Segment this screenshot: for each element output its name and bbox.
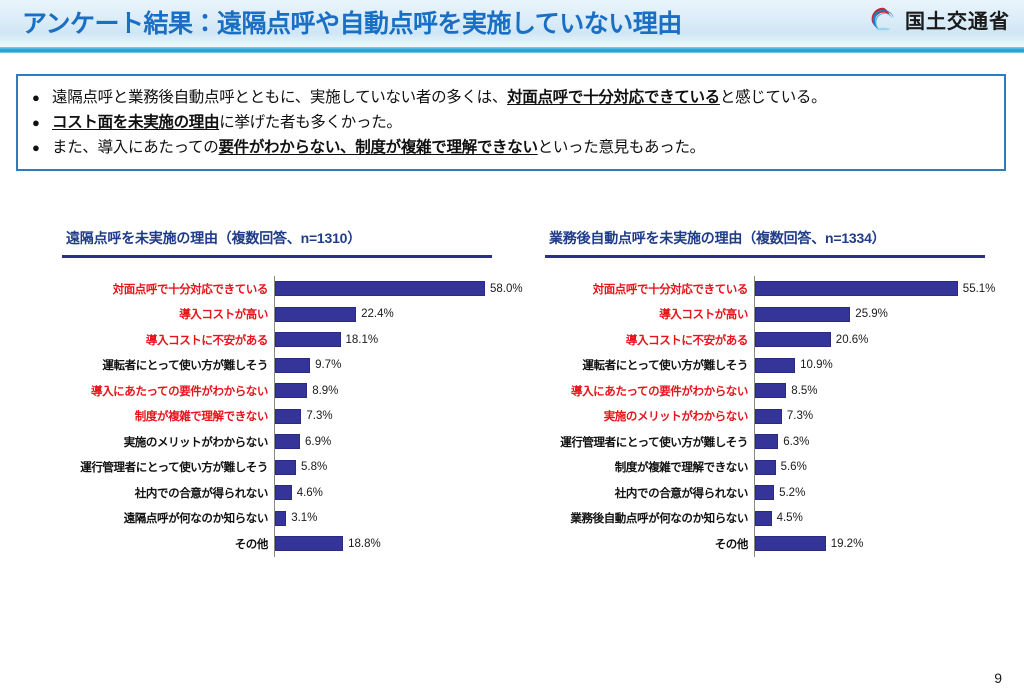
plain-phrase: と感じている。 xyxy=(720,89,826,106)
bar-track: 5.8% xyxy=(274,455,502,481)
bar-category-label: 運転者にとって使い方が難しそう xyxy=(62,357,274,373)
bar-category-label: 運転者にとって使い方が難しそう xyxy=(545,357,754,373)
summary-bullet: ●遠隔点呼と業務後自動点呼とともに、実施していない者の多くは、対面点呼で十分対応… xyxy=(32,85,992,110)
page-title: アンケート結果：遠隔点呼や自動点呼を実施していない理由 xyxy=(22,7,682,41)
plain-phrase: また、導入にあたっての xyxy=(52,139,218,156)
bar-value-label: 9.7% xyxy=(310,359,341,371)
bar-fill xyxy=(275,460,296,475)
bar-fill xyxy=(275,307,356,322)
bar-category-label: 導入コストに不安がある xyxy=(545,332,754,348)
bar-category-label: 制度が複雑で理解できない xyxy=(545,459,754,475)
bar-row: 対面点呼で十分対応できている55.1% xyxy=(545,276,995,302)
header-divider-rule xyxy=(0,47,1024,53)
page-number: 9 xyxy=(994,670,1002,686)
bar-fill xyxy=(275,511,286,526)
bar-category-label: 業務後自動点呼が何なのか知らない xyxy=(545,510,754,526)
bar-track: 5.6% xyxy=(754,455,995,481)
bar-row: その他18.8% xyxy=(62,531,502,557)
bar-track: 22.4% xyxy=(274,302,502,328)
bar-fill xyxy=(275,485,292,500)
bullet-dot-icon: ● xyxy=(32,135,52,160)
bar-category-label: 社内での合意が得られない xyxy=(62,485,274,501)
bar-fill xyxy=(275,358,310,373)
bar-category-label: 対面点呼で十分対応できている xyxy=(62,281,274,297)
bar-category-label: 導入コストに不安がある xyxy=(62,332,274,348)
bar-value-label: 8.5% xyxy=(786,385,817,397)
bar-fill xyxy=(275,281,485,296)
plain-phrase: 遠隔点呼と業務後自動点呼とともに、実施していない者の多くは、 xyxy=(52,89,507,106)
bar-value-label: 20.6% xyxy=(831,334,869,346)
bar-fill xyxy=(755,307,850,322)
summary-bullet-text: コスト面を未実施の理由に挙げた者も多くかった。 xyxy=(52,110,402,135)
bar-list: 対面点呼で十分対応できている55.1%導入コストが高い25.9%導入コストに不安… xyxy=(545,276,995,557)
bar-value-label: 8.9% xyxy=(307,385,338,397)
bar-row: 業務後自動点呼が何なのか知らない4.5% xyxy=(545,506,995,532)
bar-row: その他19.2% xyxy=(545,531,995,557)
bar-row: 実施のメリットがわからない7.3% xyxy=(545,404,995,430)
bar-track: 8.9% xyxy=(274,378,502,404)
bar-value-label: 58.0% xyxy=(485,283,523,295)
summary-bullet: ●また、導入にあたっての要件がわからない、制度が複雑で理解できないといった意見も… xyxy=(32,135,992,160)
bar-track: 58.0% xyxy=(274,276,523,302)
bar-value-label: 4.6% xyxy=(292,487,323,499)
bar-fill xyxy=(755,460,776,475)
bar-value-label: 5.8% xyxy=(296,461,327,473)
bar-fill xyxy=(275,434,300,449)
plain-phrase: に挙げた者も多くかった。 xyxy=(219,114,401,131)
bar-category-label: 遠隔点呼が何なのか知らない xyxy=(62,510,274,526)
bar-row: 導入コストに不安がある20.6% xyxy=(545,327,995,353)
bar-track: 7.3% xyxy=(754,404,995,430)
ministry-logo: 国土交通省 xyxy=(869,5,1010,34)
bar-track: 4.6% xyxy=(274,480,502,506)
bullet-dot-icon: ● xyxy=(32,110,52,135)
bar-track: 19.2% xyxy=(754,531,995,557)
emphasized-phrase: 要件がわからない、制度が複雑で理解できない xyxy=(218,139,537,156)
bar-row: 社内での合意が得られない4.6% xyxy=(62,480,502,506)
chart-title: 業務後自動点呼を未実施の理由（複数回答、n=1334） xyxy=(549,228,995,248)
bar-row: 運転者にとって使い方が難しそう9.7% xyxy=(62,353,502,379)
chart-title: 遠隔点呼を未実施の理由（複数回答、n=1310） xyxy=(66,228,502,248)
bar-category-label: 導入にあたっての要件がわからない xyxy=(62,383,274,399)
bar-list: 対面点呼で十分対応できている58.0%導入コストが高い22.4%導入コストに不安… xyxy=(62,276,502,557)
bar-fill xyxy=(755,281,958,296)
bar-value-label: 5.6% xyxy=(776,461,807,473)
bar-row: 制度が複雑で理解できない7.3% xyxy=(62,404,502,430)
bar-value-label: 55.1% xyxy=(958,283,996,295)
bar-value-label: 3.1% xyxy=(286,512,317,524)
bar-track: 55.1% xyxy=(754,276,995,302)
bar-value-label: 7.3% xyxy=(782,410,813,422)
bar-track: 6.9% xyxy=(274,429,502,455)
bar-track: 9.7% xyxy=(274,353,502,379)
bar-category-label: その他 xyxy=(62,536,274,552)
page-header: アンケート結果：遠隔点呼や自動点呼を実施していない理由 国土交通省 xyxy=(0,0,1024,54)
bar-fill xyxy=(275,383,307,398)
bar-fill xyxy=(755,383,786,398)
bar-row: 導入にあたっての要件がわからない8.5% xyxy=(545,378,995,404)
bar-category-label: 制度が複雑で理解できない xyxy=(62,408,274,424)
bar-fill xyxy=(755,409,782,424)
bar-category-label: 社内での合意が得られない xyxy=(545,485,754,501)
bar-category-label: 運行管理者にとって使い方が難しそう xyxy=(545,434,754,450)
summary-bullet-text: また、導入にあたっての要件がわからない、制度が複雑で理解できないといった意見もあ… xyxy=(52,135,705,160)
bar-track: 18.1% xyxy=(274,327,502,353)
bar-row: 運転者にとって使い方が難しそう10.9% xyxy=(545,353,995,379)
bar-track: 10.9% xyxy=(754,353,995,379)
bar-fill xyxy=(755,358,795,373)
plain-phrase: といった意見もあった。 xyxy=(538,139,705,156)
bullet-dot-icon: ● xyxy=(32,85,52,110)
bar-value-label: 10.9% xyxy=(795,359,833,371)
bar-category-label: 導入コストが高い xyxy=(62,306,274,322)
bar-track: 25.9% xyxy=(754,302,995,328)
chart-remote-roll-call: 遠隔点呼を未実施の理由（複数回答、n=1310） 対面点呼で十分対応できている5… xyxy=(62,228,502,557)
bar-category-label: 運行管理者にとって使い方が難しそう xyxy=(62,459,274,475)
bar-fill xyxy=(275,409,301,424)
chart-title-rule xyxy=(545,255,985,258)
bar-track: 18.8% xyxy=(274,531,502,557)
bar-row: 対面点呼で十分対応できている58.0% xyxy=(62,276,502,302)
summary-bullet: ●コスト面を未実施の理由に挙げた者も多くかった。 xyxy=(32,110,992,135)
bar-category-label: 導入コストが高い xyxy=(545,306,754,322)
bar-track: 6.3% xyxy=(754,429,995,455)
bar-value-label: 6.9% xyxy=(300,436,331,448)
bar-row: 制度が複雑で理解できない5.6% xyxy=(545,455,995,481)
bar-value-label: 22.4% xyxy=(356,308,394,320)
bar-category-label: その他 xyxy=(545,536,754,552)
bar-row: 運行管理者にとって使い方が難しそう6.3% xyxy=(545,429,995,455)
bar-fill xyxy=(275,332,341,347)
bar-category-label: 対面点呼で十分対応できている xyxy=(545,281,754,297)
bar-category-label: 実施のメリットがわからない xyxy=(62,434,274,450)
bar-row: 運行管理者にとって使い方が難しそう5.8% xyxy=(62,455,502,481)
bar-value-label: 18.1% xyxy=(341,334,379,346)
bar-row: 遠隔点呼が何なのか知らない3.1% xyxy=(62,506,502,532)
summary-callout-box: ●遠隔点呼と業務後自動点呼とともに、実施していない者の多くは、対面点呼で十分対応… xyxy=(16,74,1006,171)
bar-value-label: 18.8% xyxy=(343,538,381,550)
bar-track: 4.5% xyxy=(754,506,995,532)
bar-fill xyxy=(755,332,831,347)
bar-category-label: 実施のメリットがわからない xyxy=(545,408,754,424)
bar-row: 社内での合意が得られない5.2% xyxy=(545,480,995,506)
emphasized-phrase: 対面点呼で十分対応できている xyxy=(507,89,720,106)
bar-fill xyxy=(755,511,772,526)
bar-value-label: 5.2% xyxy=(774,487,805,499)
bar-row: 導入コストが高い25.9% xyxy=(545,302,995,328)
bar-value-label: 4.5% xyxy=(772,512,803,524)
bar-track: 7.3% xyxy=(274,404,502,430)
ministry-name: 国土交通省 xyxy=(905,5,1010,34)
bar-track: 3.1% xyxy=(274,506,502,532)
bar-value-label: 7.3% xyxy=(301,410,332,422)
bar-row: 導入コストに不安がある18.1% xyxy=(62,327,502,353)
bar-track: 5.2% xyxy=(754,480,995,506)
summary-bullet-text: 遠隔点呼と業務後自動点呼とともに、実施していない者の多くは、対面点呼で十分対応で… xyxy=(52,85,826,110)
bar-fill xyxy=(275,536,343,551)
bar-fill xyxy=(755,485,774,500)
chart-post-duty-auto-roll-call: 業務後自動点呼を未実施の理由（複数回答、n=1334） 対面点呼で十分対応できて… xyxy=(545,228,995,557)
bar-value-label: 19.2% xyxy=(826,538,864,550)
bar-track: 20.6% xyxy=(754,327,995,353)
bar-row: 実施のメリットがわからない6.9% xyxy=(62,429,502,455)
bar-row: 導入にあたっての要件がわからない8.9% xyxy=(62,378,502,404)
bar-row: 導入コストが高い22.4% xyxy=(62,302,502,328)
bar-track: 8.5% xyxy=(754,378,995,404)
bar-value-label: 25.9% xyxy=(850,308,888,320)
bar-category-label: 導入にあたっての要件がわからない xyxy=(545,383,754,399)
bar-fill xyxy=(755,434,778,449)
chart-title-rule xyxy=(62,255,492,258)
emphasized-phrase: コスト面を未実施の理由 xyxy=(52,114,219,131)
bar-fill xyxy=(755,536,826,551)
bar-value-label: 6.3% xyxy=(778,436,809,448)
mlit-swirl-logo-icon xyxy=(869,6,897,34)
